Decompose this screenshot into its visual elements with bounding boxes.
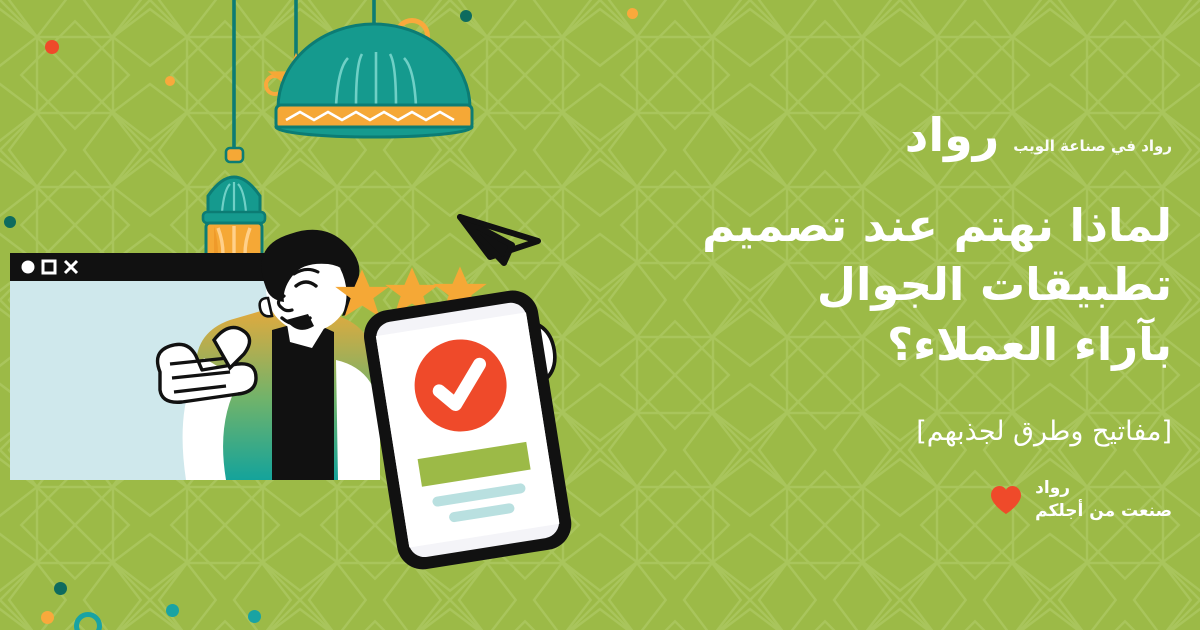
headline-line-2: تطبيقات الجوال: [612, 255, 1172, 314]
subheadline: [مفاتيح وطرق لجذبهم]: [612, 415, 1172, 449]
brand-lockup: رواد في صناعة الويب رواد: [905, 112, 1172, 158]
poster-canvas: رواد في صناعة الويب رواد لماذا نهتم عند …: [0, 0, 1200, 630]
brand-name: رواد: [905, 112, 999, 158]
headline-line-1: لماذا نهتم عند تصميم: [612, 196, 1172, 255]
page-title: لماذا نهتم عند تصميم تطبيقات الجوال بآرا…: [612, 196, 1172, 374]
headline-line-3: بآراء العملاء؟: [612, 315, 1172, 374]
hero-illustration: [0, 0, 620, 630]
signature-line-1: رواد: [1035, 478, 1070, 499]
heart-icon: [989, 484, 1023, 516]
signature-text: رواد صنعت من أجلكم: [1035, 478, 1172, 523]
brand-tagline: رواد في صناعة الويب: [1013, 139, 1172, 154]
paper-plane-icon: [460, 217, 538, 263]
hanging-dome-lantern-icon: [276, 24, 472, 137]
signature-line-2: صنعت من أجلكم: [1035, 501, 1172, 522]
phone-mockup: [360, 285, 585, 573]
text-column: رواد في صناعة الويب رواد لماذا نهتم عند …: [612, 0, 1172, 630]
circle-icon: [22, 261, 35, 274]
footer-signature: رواد صنعت من أجلكم: [989, 478, 1172, 523]
